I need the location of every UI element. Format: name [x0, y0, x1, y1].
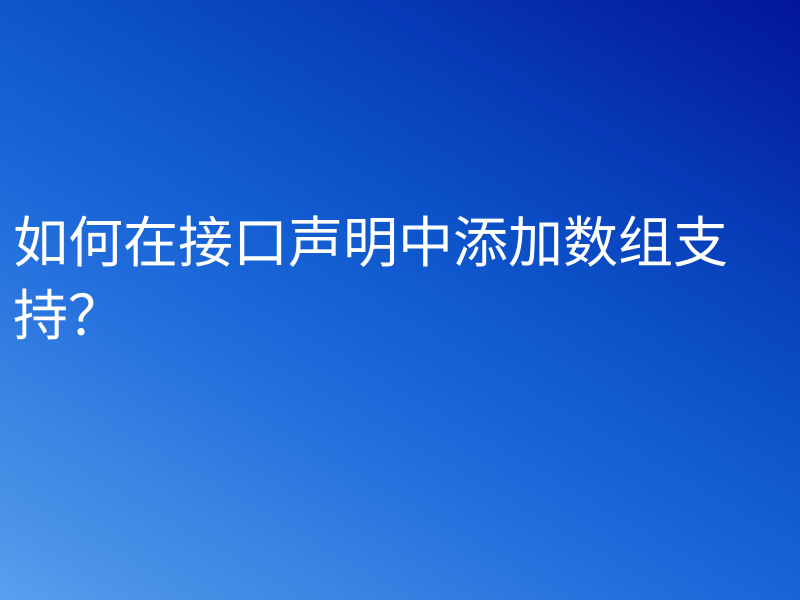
gradient-banner: 如何在接口声明中添加数组支 持？	[0, 0, 800, 600]
banner-title-line-2: 持？	[13, 280, 800, 353]
banner-title-line-1: 如何在接口声明中添加数组支	[13, 207, 800, 280]
banner-title-block: 如何在接口声明中添加数组支 持？	[13, 207, 800, 353]
